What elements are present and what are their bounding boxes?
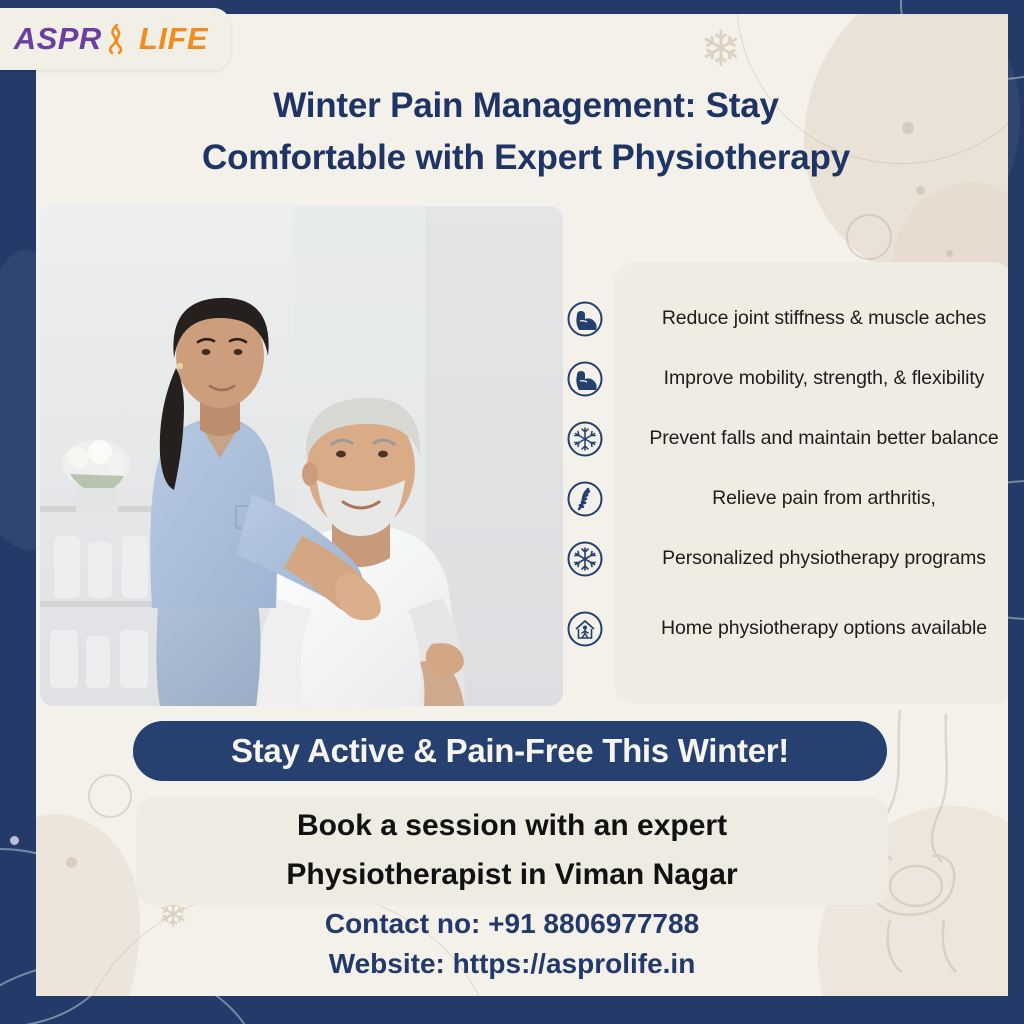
decor-spot-b [916,186,925,195]
booking-line-2: Physiotherapist in Viman Nagar [136,851,888,900]
bicep-icon [566,360,604,398]
poster-root: ❄ ❄ Winter Pain Management: Stay Comfort… [0,0,1024,1024]
snowflake-decor-top: ❄ [700,20,742,78]
benefit-item: Reduce joint stiffness & muscle aches [566,290,1008,348]
benefit-item: Improve mobility, strength, & flexibilit… [566,350,1008,408]
cta-banner[interactable]: Stay Active & Pain-Free This Winter! [133,721,887,781]
benefit-item: Relieve pain from arthritis, [566,470,1008,528]
page-title: Winter Pain Management: Stay Comfortable… [96,80,956,184]
decor-blob-bottom-left [36,814,140,996]
decor-spot-e [66,857,77,868]
booking-text: Book a session with an expert Physiother… [136,802,888,899]
spine-icon [566,480,604,518]
poster-card: ❄ ❄ Winter Pain Management: Stay Comfort… [36,14,1008,996]
benefit-label: Relieve pain from arthritis, [614,486,1008,512]
contact-block: Contact no: +91 8806977788 Website: http… [136,904,888,984]
benefit-label: Prevent falls and maintain better balanc… [614,426,1008,452]
benefit-item: Personalized physiotherapy programs [566,530,1008,588]
decor-ring-a [846,214,892,260]
bicep-icon [566,300,604,338]
flame-spine-icon [103,24,129,54]
contact-phone[interactable]: Contact no: +91 8806977788 [136,904,888,944]
contact-website[interactable]: Website: https://asprolife.in [136,944,888,984]
benefits-list: Reduce joint stiffness & muscle aches Im… [566,290,1008,670]
benefit-label: Personalized physiotherapy programs [614,546,1008,572]
decor-ring-b [88,774,132,818]
cta-label: Stay Active & Pain-Free This Winter! [231,732,789,770]
photo-illustration [40,206,563,706]
snowflake-icon [566,420,604,458]
booking-line-1: Book a session with an expert [136,802,888,851]
benefit-item: Prevent falls and maintain better balanc… [566,410,1008,468]
decor-spot-c [946,250,953,257]
benefit-label: Home physiotherapy options available [614,616,1008,642]
hero-photo [40,206,563,706]
logo-wordmark: ASPR LIFE [14,21,208,57]
logo-text-life: LIFE [139,21,208,57]
title-line-1: Winter Pain Management: Stay [96,80,956,132]
brand-logo[interactable]: ASPR LIFE [0,8,230,70]
benefit-item: Home physiotherapy options available [566,590,1008,668]
benefit-label: Reduce joint stiffness & muscle aches [614,306,1008,332]
snowflake-icon [566,540,604,578]
logo-text-aspro: ASPR [14,21,102,57]
benefit-label: Improve mobility, strength, & flexibilit… [614,366,1008,392]
title-line-2: Comfortable with Expert Physiotherapy [96,132,956,184]
home-therapy-icon [566,610,604,648]
